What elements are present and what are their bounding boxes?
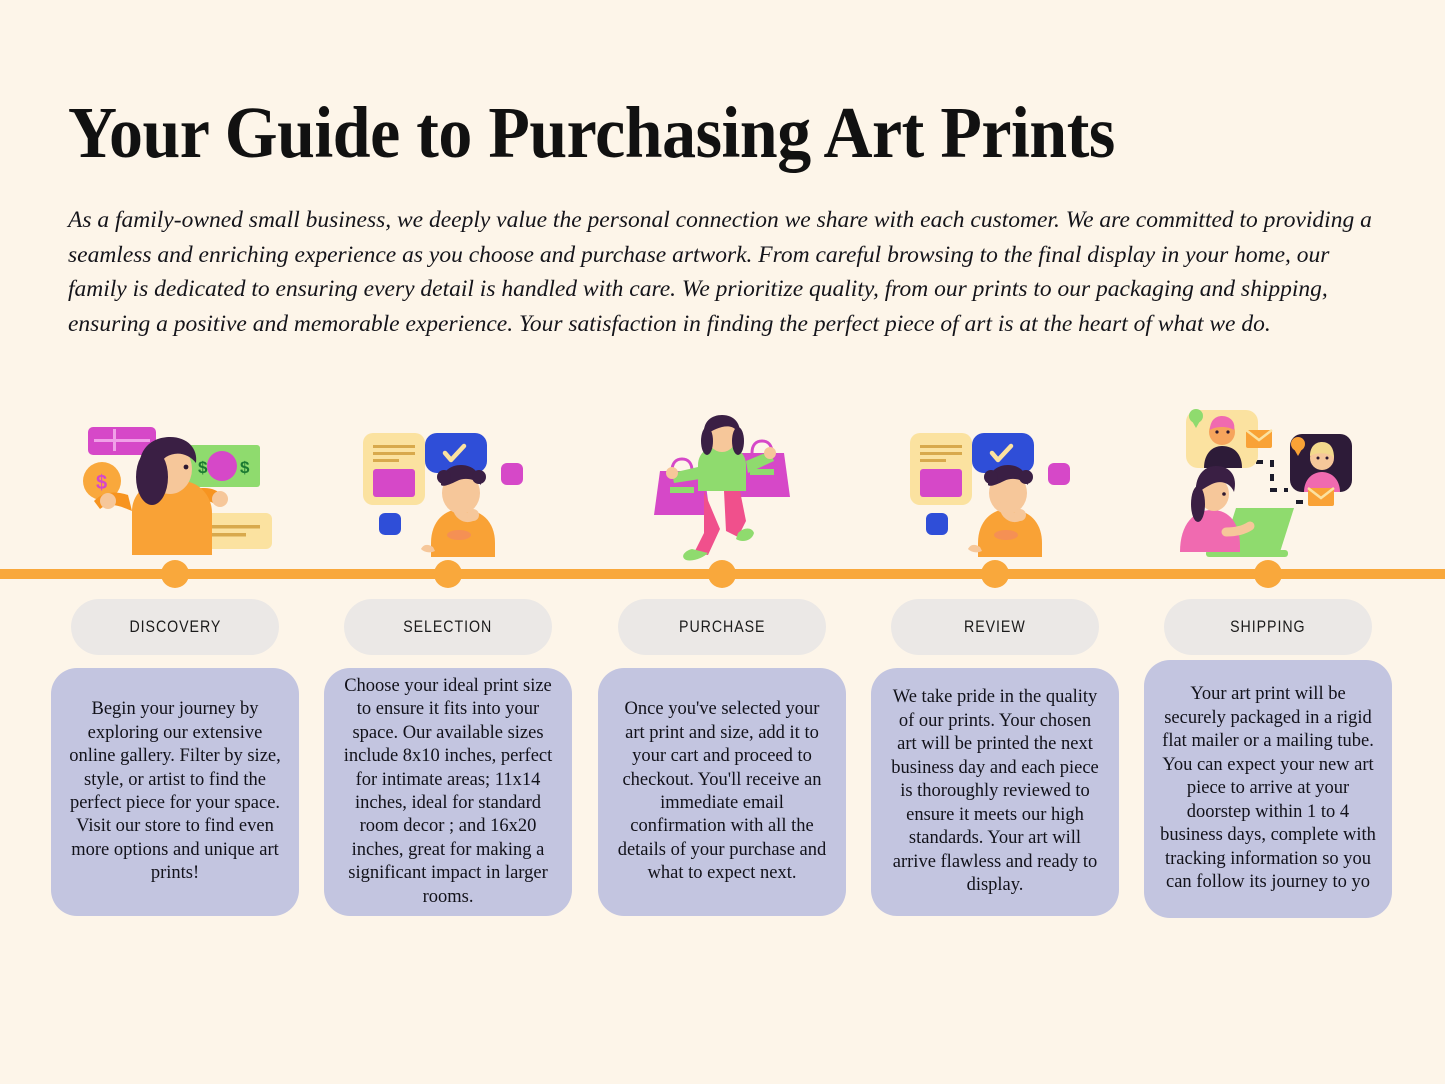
stage-label-purchase[interactable]: PURCHASE — [618, 599, 826, 655]
timeline-dot-selection — [434, 560, 462, 588]
svg-text:$: $ — [96, 472, 107, 494]
stage-label-text: SELECTION — [404, 618, 493, 637]
timeline-dot-shipping — [1254, 560, 1282, 588]
timeline-dot-purchase — [708, 560, 736, 588]
stage-label-selection[interactable]: SELECTION — [344, 599, 552, 655]
stage-label-review[interactable]: REVIEW — [891, 599, 1099, 655]
stage-card-selection: Choose your ideal print size to ensure i… — [324, 668, 572, 916]
stage-label-discovery[interactable]: DISCOVERY — [71, 599, 279, 655]
illustration-shipping — [1148, 400, 1388, 565]
stage-label-text: SHIPPING — [1230, 618, 1305, 637]
stage-label-text: REVIEW — [964, 618, 1026, 637]
illustration-purchase — [602, 415, 842, 565]
stage-card-review: We take pride in the quality of our prin… — [871, 668, 1119, 916]
infographic-page: Your Guide to Purchasing Art Prints As a… — [0, 0, 1445, 1084]
stage-card-purchase: Once you've selected your art print and … — [598, 668, 846, 916]
stage-description: Once you've selected your art print and … — [614, 698, 830, 886]
illustration-selection — [328, 415, 568, 565]
stage-card-discovery: Begin your journey by exploring our exte… — [51, 668, 299, 916]
illustration-review — [875, 415, 1115, 565]
stage-label-shipping[interactable]: SHIPPING — [1164, 599, 1372, 655]
timeline-dot-discovery — [161, 560, 189, 588]
stage-description: Choose your ideal print size to ensure i… — [340, 675, 556, 910]
svg-text:$: $ — [198, 458, 208, 477]
stage-label-text: DISCOVERY — [129, 618, 221, 637]
timeline-dot-review — [981, 560, 1009, 588]
stage-description: Your art print will be securely packaged… — [1160, 683, 1376, 894]
intro-paragraph: As a family-owned small business, we dee… — [68, 203, 1390, 341]
stage-description: We take pride in the quality of our prin… — [887, 686, 1103, 897]
svg-text:$: $ — [240, 458, 250, 477]
stage-card-shipping: Your art print will be securely packaged… — [1144, 660, 1392, 918]
page-title: Your Guide to Purchasing Art Prints — [68, 96, 1296, 169]
stage-label-text: PURCHASE — [679, 618, 765, 637]
header: Your Guide to Purchasing Art Prints As a… — [68, 96, 1388, 341]
illustration-discovery: $ $ $ — [55, 415, 295, 565]
stage-description: Begin your journey by exploring our exte… — [67, 698, 283, 886]
